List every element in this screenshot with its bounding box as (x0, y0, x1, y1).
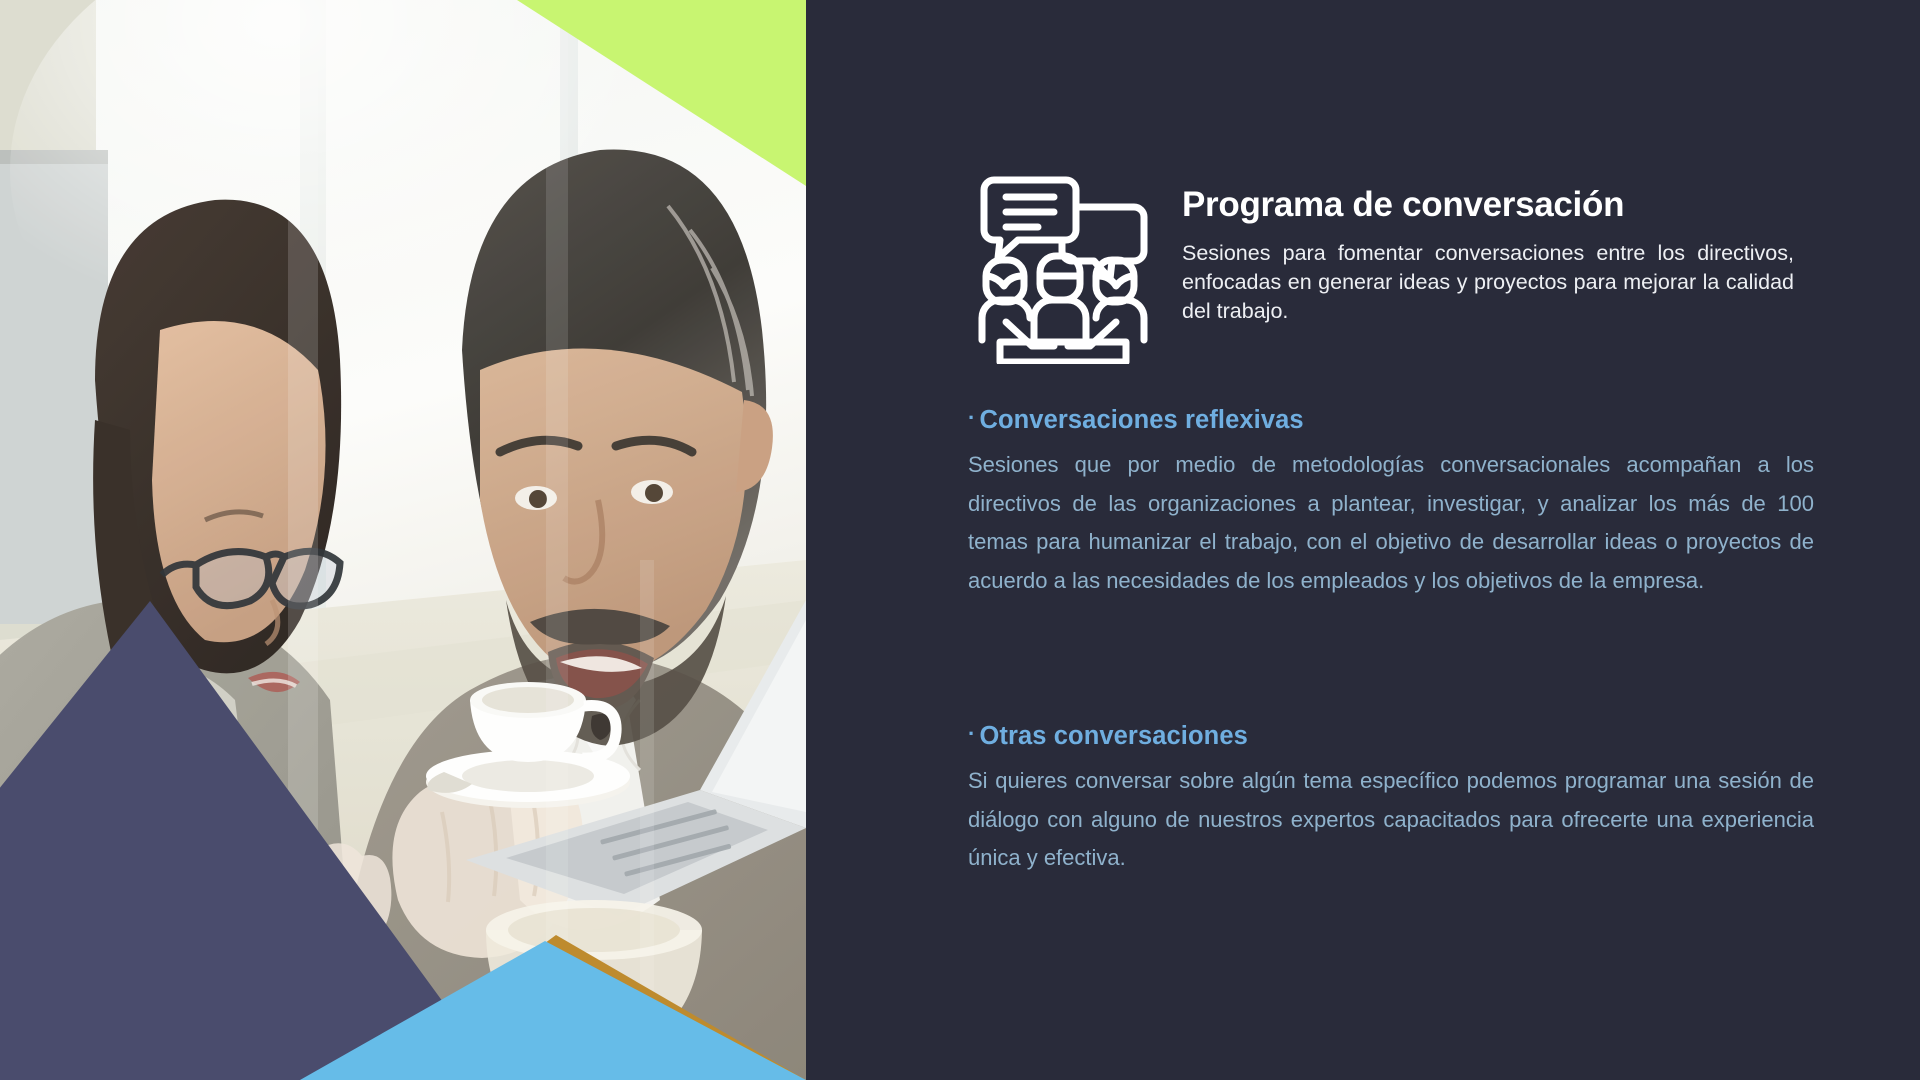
section-conversaciones-reflexivas: ·Conversaciones reflexivas Sesiones que … (968, 406, 1814, 601)
page-title: Programa de conversación (1182, 186, 1816, 225)
section-body: Sesiones que por medio de metodologías c… (968, 446, 1814, 601)
section-otras-conversaciones: ·Otras conversaciones Si quieres convers… (968, 722, 1814, 878)
meeting-conversation-photo (0, 0, 806, 1080)
section-heading-label: Conversaciones reflexivas (979, 406, 1303, 434)
section-body: Si quieres conversar sobre algún tema es… (968, 762, 1814, 878)
section-heading-label: Otras conversaciones (979, 722, 1247, 750)
bullet-dot: · (968, 406, 975, 430)
header-description: Sesiones para fomentar conversaciones en… (1182, 239, 1794, 327)
section-heading: ·Otras conversaciones (968, 722, 1814, 750)
group-conversation-icon (976, 172, 1154, 364)
section-heading: ·Conversaciones reflexivas (968, 406, 1814, 434)
bullet-dot: · (968, 722, 975, 746)
slide-root: Programa de conversación Sesiones para f… (0, 0, 1920, 1080)
photo-illustration (0, 0, 806, 1080)
header-block: Programa de conversación Sesiones para f… (976, 166, 1816, 364)
header-text: Programa de conversación Sesiones para f… (1182, 166, 1816, 327)
content-panel: Programa de conversación Sesiones para f… (806, 0, 1920, 1080)
